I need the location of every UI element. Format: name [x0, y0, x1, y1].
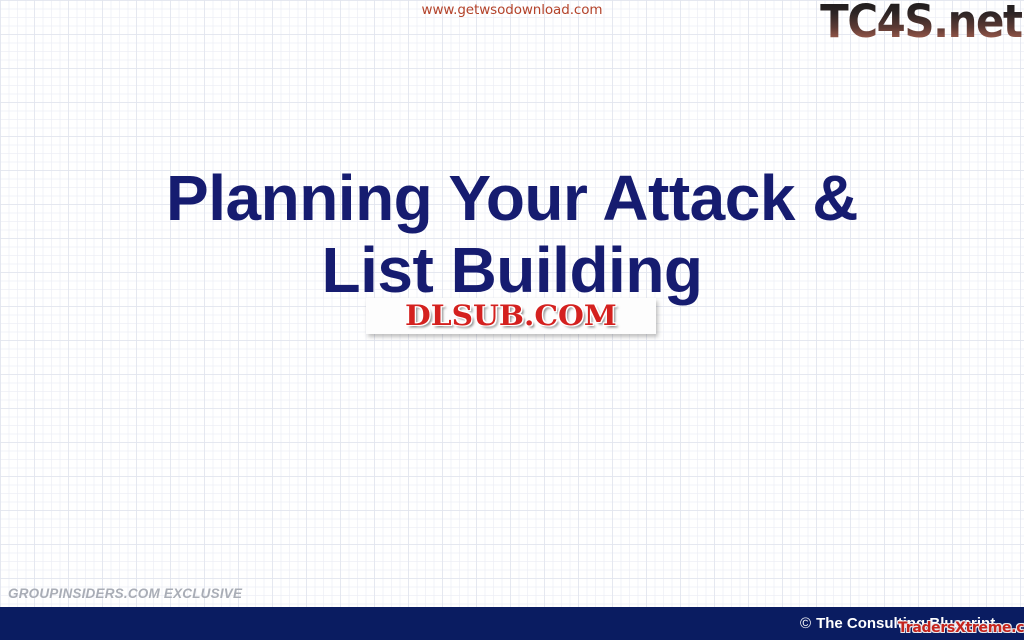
- footer-bar: ©The Consulting Blueprint: [0, 607, 1024, 640]
- brand-logo-tc4s: TC4S.net: [821, 0, 1022, 45]
- slide-title: Planning Your Attack & List Building: [0, 162, 1024, 306]
- presentation-slide: www.getwsodownload.com TC4S.net Planning…: [0, 0, 1024, 640]
- exclusive-note: GROUPINSIDERS.COM EXCLUSIVE: [8, 586, 242, 601]
- slide-title-line-1: Planning Your Attack &: [0, 162, 1024, 234]
- watermark-dlsub-badge: DLSUB.COM: [366, 298, 656, 334]
- watermark-tradersxtreme: TradersXtreme.com: [898, 620, 1024, 636]
- copyright-icon: ©: [800, 615, 811, 632]
- watermark-dlsub-text: DLSUB.COM: [405, 301, 617, 331]
- slide-title-line-2: List Building: [0, 234, 1024, 306]
